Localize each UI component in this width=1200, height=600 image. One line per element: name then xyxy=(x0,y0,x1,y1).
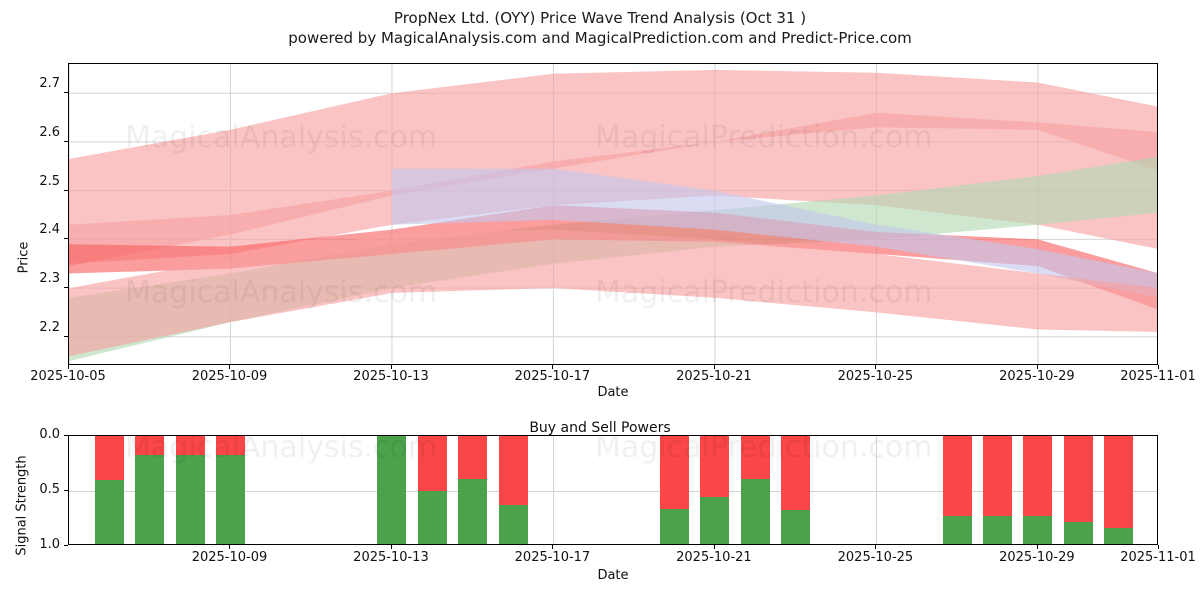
sell-power-bar[interactable] xyxy=(95,436,124,480)
signal-xtick-mark xyxy=(1158,545,1159,549)
signal-xtick-mark xyxy=(552,545,553,549)
sell-power-bar[interactable] xyxy=(216,436,245,455)
price-xtick-mark xyxy=(229,365,230,369)
price-xtick-label: 2025-10-29 xyxy=(982,369,1092,384)
signal-xtick-label: 2025-10-09 xyxy=(174,550,284,565)
buy-power-bar[interactable] xyxy=(499,505,528,545)
price-ytick-mark xyxy=(64,336,68,337)
title-block: PropNex Ltd. (OYY) Price Wave Trend Anal… xyxy=(0,8,1200,48)
signal-xtick-label: 2025-10-17 xyxy=(497,550,607,565)
sell-power-bar[interactable] xyxy=(1104,436,1133,528)
buy-power-bar[interactable] xyxy=(216,455,245,545)
signal-gridline-v xyxy=(876,436,877,545)
sell-power-bar[interactable] xyxy=(135,436,164,455)
sell-power-bar[interactable] xyxy=(660,436,689,509)
price-ytick-mark xyxy=(64,287,68,288)
price-ytick-label: 2.7 xyxy=(18,76,60,91)
bars-layer xyxy=(69,436,1158,545)
signal-xtick-mark xyxy=(229,545,230,549)
sell-power-bar[interactable] xyxy=(781,436,810,510)
buy-power-bar[interactable] xyxy=(1064,522,1093,545)
signal-ytick-label: 0.0 xyxy=(18,427,60,442)
signal-xtick-label: 2025-10-21 xyxy=(659,550,769,565)
page-subtitle: powered by MagicalAnalysis.com and Magic… xyxy=(0,28,1200,48)
page-title: PropNex Ltd. (OYY) Price Wave Trend Anal… xyxy=(0,8,1200,28)
price-xtick-mark xyxy=(552,365,553,369)
buy-power-bar[interactable] xyxy=(660,509,689,545)
price-xtick-mark xyxy=(1037,365,1038,369)
signal-xtick-label: 2025-10-13 xyxy=(336,550,446,565)
price-bands-svg xyxy=(69,64,1158,365)
buy-power-bar[interactable] xyxy=(176,455,205,545)
price-ytick-label: 2.6 xyxy=(18,125,60,140)
price-xtick-mark xyxy=(714,365,715,369)
buy-power-bar[interactable] xyxy=(983,516,1012,545)
buy-power-bar[interactable] xyxy=(458,479,487,545)
price-ytick-label: 2.4 xyxy=(18,222,60,237)
price-xtick-mark xyxy=(391,365,392,369)
buy-power-bar[interactable] xyxy=(741,479,770,545)
signal-xtick-mark xyxy=(714,545,715,549)
sell-power-bar[interactable] xyxy=(458,436,487,479)
price-xtick-label: 2025-10-09 xyxy=(174,369,284,384)
signal-ytick-mark xyxy=(64,545,68,546)
signal-gridline-v xyxy=(553,436,554,545)
chart-page: PropNex Ltd. (OYY) Price Wave Trend Anal… xyxy=(0,0,1200,600)
price-ytick-mark xyxy=(64,190,68,191)
buy-power-bar[interactable] xyxy=(377,436,406,545)
price-xtick-label: 2025-10-25 xyxy=(820,369,930,384)
signal-xtick-mark xyxy=(875,545,876,549)
buy-power-bar[interactable] xyxy=(1104,528,1133,545)
sell-power-bar[interactable] xyxy=(943,436,972,516)
price-ytick-label: 2.5 xyxy=(18,174,60,189)
sell-power-bar[interactable] xyxy=(418,436,447,491)
signal-chart-title: Buy and Sell Powers xyxy=(0,420,1200,436)
signal-ytick-mark xyxy=(64,490,68,491)
price-ytick-label: 2.2 xyxy=(18,320,60,335)
buy-power-bar[interactable] xyxy=(95,480,124,545)
signal-chart-panel: Buy and Sell Powers Signal Strength 1.00… xyxy=(0,408,1200,600)
signal-y-axis-label: Signal Strength xyxy=(15,436,30,576)
price-xtick-mark xyxy=(1158,365,1159,369)
price-ytick-mark xyxy=(64,92,68,93)
price-xtick-label: 2025-10-05 xyxy=(13,369,123,384)
price-plot-area xyxy=(68,63,1158,365)
price-xtick-mark xyxy=(68,365,69,369)
price-ytick-label: 2.3 xyxy=(18,271,60,286)
sell-power-bar[interactable] xyxy=(1064,436,1093,522)
buy-power-bar[interactable] xyxy=(781,510,810,545)
price-xtick-label: 2025-10-21 xyxy=(659,369,769,384)
sell-power-bar[interactable] xyxy=(741,436,770,479)
signal-xtick-mark xyxy=(1037,545,1038,549)
price-x-axis-label: Date xyxy=(568,385,658,400)
signal-xtick-label: 2025-10-25 xyxy=(820,550,930,565)
signal-ytick-label: 1.0 xyxy=(18,537,60,552)
signal-x-axis-label: Date xyxy=(568,568,658,583)
signal-xtick-label: 2025-10-29 xyxy=(982,550,1092,565)
buy-power-bar[interactable] xyxy=(418,491,447,545)
buy-power-bar[interactable] xyxy=(1023,516,1052,545)
price-chart-panel: Price 2.72.62.52.42.32.22025-10-052025-1… xyxy=(0,55,1200,400)
sell-power-bar[interactable] xyxy=(983,436,1012,516)
price-xtick-mark xyxy=(875,365,876,369)
price-xtick-label: 2025-10-17 xyxy=(497,369,607,384)
buy-power-bar[interactable] xyxy=(135,455,164,545)
buy-power-bar[interactable] xyxy=(700,497,729,546)
signal-ytick-label: 0.5 xyxy=(18,482,60,497)
signal-xtick-label: 2025-11-01 xyxy=(1103,550,1200,565)
signal-xtick-mark xyxy=(391,545,392,549)
sell-power-bar[interactable] xyxy=(499,436,528,505)
sell-power-bar[interactable] xyxy=(1023,436,1052,516)
price-ytick-mark xyxy=(64,238,68,239)
signal-plot-area xyxy=(68,435,1158,545)
price-xtick-label: 2025-10-13 xyxy=(336,369,446,384)
sell-power-bar[interactable] xyxy=(700,436,729,497)
signal-ytick-mark xyxy=(64,435,68,436)
price-xtick-label: 2025-11-01 xyxy=(1103,369,1200,384)
buy-power-bar[interactable] xyxy=(943,516,972,545)
sell-power-bar[interactable] xyxy=(176,436,205,455)
price-ytick-mark xyxy=(64,141,68,142)
